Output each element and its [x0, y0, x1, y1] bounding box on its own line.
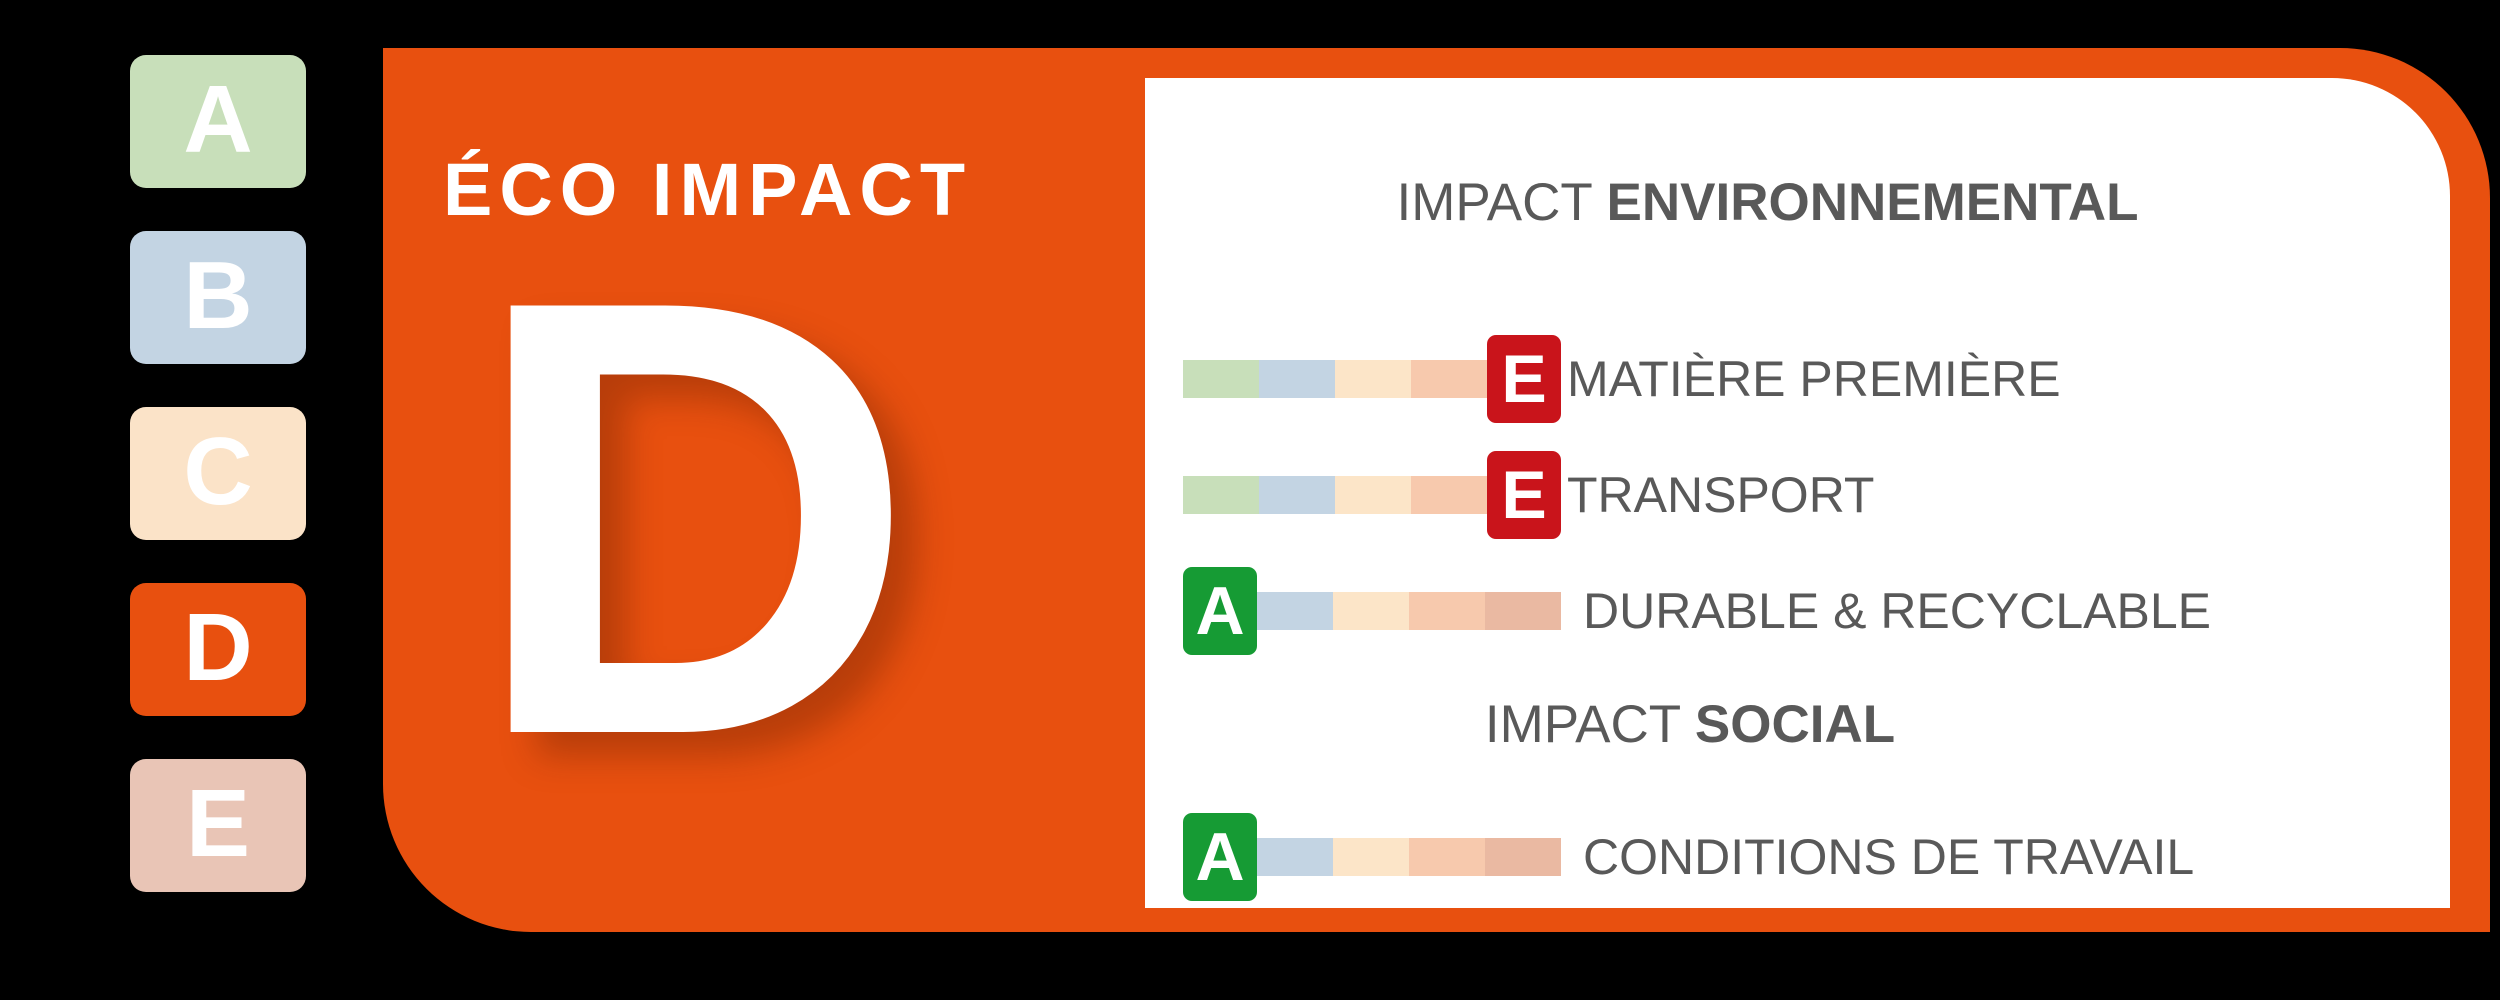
- scale-segment-4: [1411, 360, 1487, 398]
- grade-chip-d-letter: D: [183, 600, 252, 696]
- grade-chip-b[interactable]: B: [130, 231, 306, 364]
- grade-scale-legend: A B C D E: [130, 55, 306, 935]
- overall-grade-letter: D: [343, 188, 1043, 848]
- grade-badge-transport: E: [1487, 451, 1561, 539]
- metric-label-durable-recyclable: DURABLE & RECYCLABLE: [1583, 586, 2211, 636]
- grade-chip-c[interactable]: C: [130, 407, 306, 540]
- scale-segment-2: [1259, 476, 1335, 514]
- metric-row-matiere-premiere: E MATIÈRE PREMIÈRE: [1183, 340, 2433, 418]
- impact-detail-panel: IMPACT ENVIRONNEMENTAL E MATIÈRE PREMIÈR…: [1145, 78, 2450, 908]
- scale-segment-1: [1257, 838, 1333, 876]
- metric-row-conditions-de-travail: A CONDITIONS DE TRAVAIL: [1183, 818, 2433, 896]
- grade-chip-e-letter: E: [186, 776, 250, 872]
- scale-bar-matiere-premiere: [1183, 360, 1487, 398]
- metric-label-matiere-premiere: MATIÈRE PREMIÈRE: [1567, 354, 2061, 404]
- grade-badge-conditions-de-travail: A: [1183, 813, 1257, 901]
- scale-segment-4: [1485, 592, 1561, 630]
- scale-segment-1: [1183, 476, 1259, 514]
- brand-block: ÉCO IMPACT D: [383, 48, 1145, 932]
- grade-chip-b-letter: B: [183, 248, 252, 344]
- section-heading-environmental-light: IMPACT: [1396, 173, 1606, 232]
- scale-bar-transport: [1183, 476, 1487, 514]
- metric-row-transport: E TRANSPORT: [1183, 456, 2433, 534]
- grade-chip-c-letter: C: [183, 424, 252, 520]
- section-heading-environmental-strong: ENVIRONNEMENTAL: [1607, 173, 2139, 232]
- metric-row-durable-recyclable: A DURABLE & RECYCLABLE: [1183, 572, 2433, 650]
- scale-bar-durable-recyclable: [1257, 592, 1561, 630]
- metric-label-transport: TRANSPORT: [1567, 470, 1874, 520]
- scale-segment-2: [1333, 592, 1409, 630]
- scale-segment-2: [1333, 838, 1409, 876]
- grade-chip-a[interactable]: A: [130, 55, 306, 188]
- section-heading-environmental: IMPACT ENVIRONNEMENTAL: [1145, 176, 2390, 229]
- scale-segment-3: [1335, 476, 1411, 514]
- metric-label-conditions-de-travail: CONDITIONS DE TRAVAIL: [1583, 832, 2194, 882]
- scale-bar-conditions-de-travail: [1257, 838, 1561, 876]
- section-heading-social: IMPACT SOCIAL: [1145, 698, 2235, 751]
- scale-segment-4: [1411, 476, 1487, 514]
- scale-segment-4: [1485, 838, 1561, 876]
- scale-segment-3: [1335, 360, 1411, 398]
- section-heading-social-strong: SOCIAL: [1695, 695, 1895, 754]
- scale-segment-2: [1259, 360, 1335, 398]
- grade-chip-a-letter: A: [183, 72, 252, 168]
- grade-chip-d[interactable]: D: [130, 583, 306, 716]
- grade-chip-e[interactable]: E: [130, 759, 306, 892]
- eco-impact-card: ÉCO IMPACT D IMPACT ENVIRONNEMENTAL E MA…: [383, 48, 2490, 932]
- scale-segment-1: [1183, 360, 1259, 398]
- grade-badge-matiere-premiere: E: [1487, 335, 1561, 423]
- scale-segment-3: [1409, 592, 1485, 630]
- section-heading-social-light: IMPACT: [1485, 695, 1695, 754]
- scale-segment-1: [1257, 592, 1333, 630]
- scale-segment-3: [1409, 838, 1485, 876]
- grade-badge-durable-recyclable: A: [1183, 567, 1257, 655]
